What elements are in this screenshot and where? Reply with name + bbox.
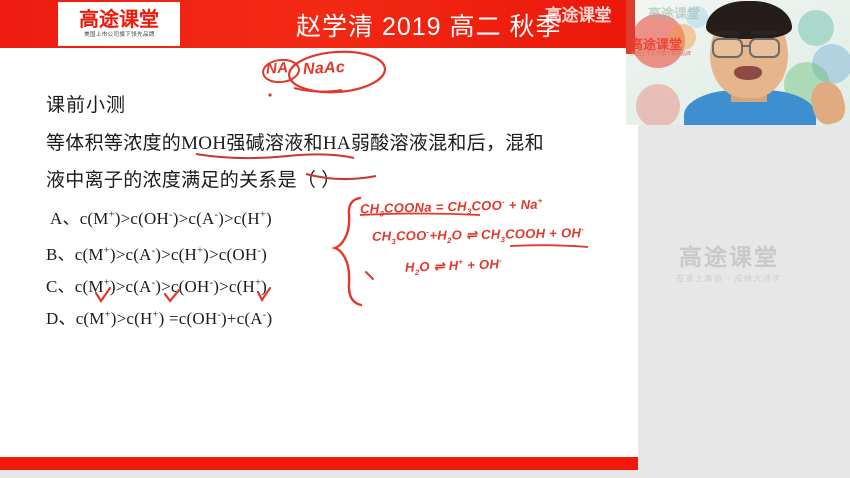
brand-logo-tagline: 美国上市公司旗下领先品牌	[84, 31, 155, 39]
decor-circle-pink	[636, 84, 680, 125]
slide-footer-bar	[0, 457, 638, 470]
header-watermark-logo: 高途课堂	[545, 1, 611, 26]
option-d: D、c(M+)>c(H+) =c(OH-)+c(A-)	[46, 304, 272, 329]
teacher-glasses-right-lens	[749, 38, 780, 58]
brand-logo: 高途课堂 美国上市公司旗下领先品牌	[58, 2, 180, 46]
course-title: 赵学清 2019 高二 秋季	[296, 7, 561, 43]
option-a: A、c(M+)>c(OH-)>c(A-)>c(H+)	[50, 204, 272, 229]
slide-section-title: 课前小测	[46, 90, 126, 117]
decor-circle-teal	[798, 10, 834, 46]
brand-logo-text: 高途课堂	[79, 9, 159, 31]
teacher-video-feed[interactable]: 高途课堂 高途课堂 美国上市公司旗下领先品牌	[626, 0, 850, 125]
question-line-2: 液中离子的浓度满足的关系是（ ）	[46, 165, 341, 192]
brand-watermark-tagline: 在家上高途 · 成绩大进步	[644, 273, 814, 284]
brand-watermark-text: 高途课堂	[644, 244, 814, 270]
video-backdrop-top-logo: 高途课堂	[648, 3, 700, 22]
slide-canvas: 高途课堂 美国上市公司旗下领先品牌 赵学清 2019 高二 秋季 高途课堂 课前…	[0, 0, 638, 470]
ink-equation-3: H2O ⇌ H+ + OH-	[405, 256, 503, 275]
option-b-key: B、	[46, 245, 75, 264]
option-a-text: c(M+)>c(OH-)>c(A-)>c(H+)	[80, 209, 272, 228]
slide-body: 课前小测 等体积等浓度的MOH强碱溶液和HA弱酸溶液混和后，混和 液中离子的浓度…	[0, 48, 638, 448]
option-d-key: D、	[46, 309, 76, 328]
teacher-glasses-bridge	[743, 45, 749, 47]
ink-label-na: NA	[265, 59, 288, 78]
option-c: C、c(M+)>c(A-)>c(OH-)>c(H+)	[46, 272, 267, 297]
lesson-video-screen: 高途课堂 美国上市公司旗下领先品牌 赵学清 2019 高二 秋季 高途课堂 课前…	[0, 0, 850, 478]
option-b-text: c(M+)>c(A-)>c(H+)>c(OH-)	[75, 245, 267, 264]
option-d-text: c(M+)>c(H+) =c(OH-)+c(A-)	[76, 309, 273, 328]
option-c-key: C、	[46, 277, 75, 296]
ink-label-naac: NaAc	[303, 59, 346, 79]
video-backdrop-logo-tagline: 美国上市公司旗下领先品牌	[631, 50, 691, 57]
option-a-key: A、	[50, 209, 80, 228]
teacher-mouth	[734, 66, 762, 80]
option-b: B、c(M+)>c(A-)>c(H+)>c(OH-)	[46, 240, 267, 265]
question-line-1: 等体积等浓度的MOH强碱溶液和HA弱酸溶液混和后，混和	[46, 128, 544, 155]
teacher-eyebrow-left	[714, 31, 741, 35]
brand-watermark: 高途课堂 在家上高途 · 成绩大进步	[644, 244, 814, 284]
option-c-text: c(M+)>c(A-)>c(OH-)>c(H+)	[75, 277, 267, 296]
teacher-glasses-left-lens	[712, 38, 743, 58]
slide-header-bar: 高途课堂 美国上市公司旗下领先品牌 赵学清 2019 高二 秋季 高途课堂	[0, 0, 638, 48]
teacher-eyebrow-right	[751, 31, 778, 35]
